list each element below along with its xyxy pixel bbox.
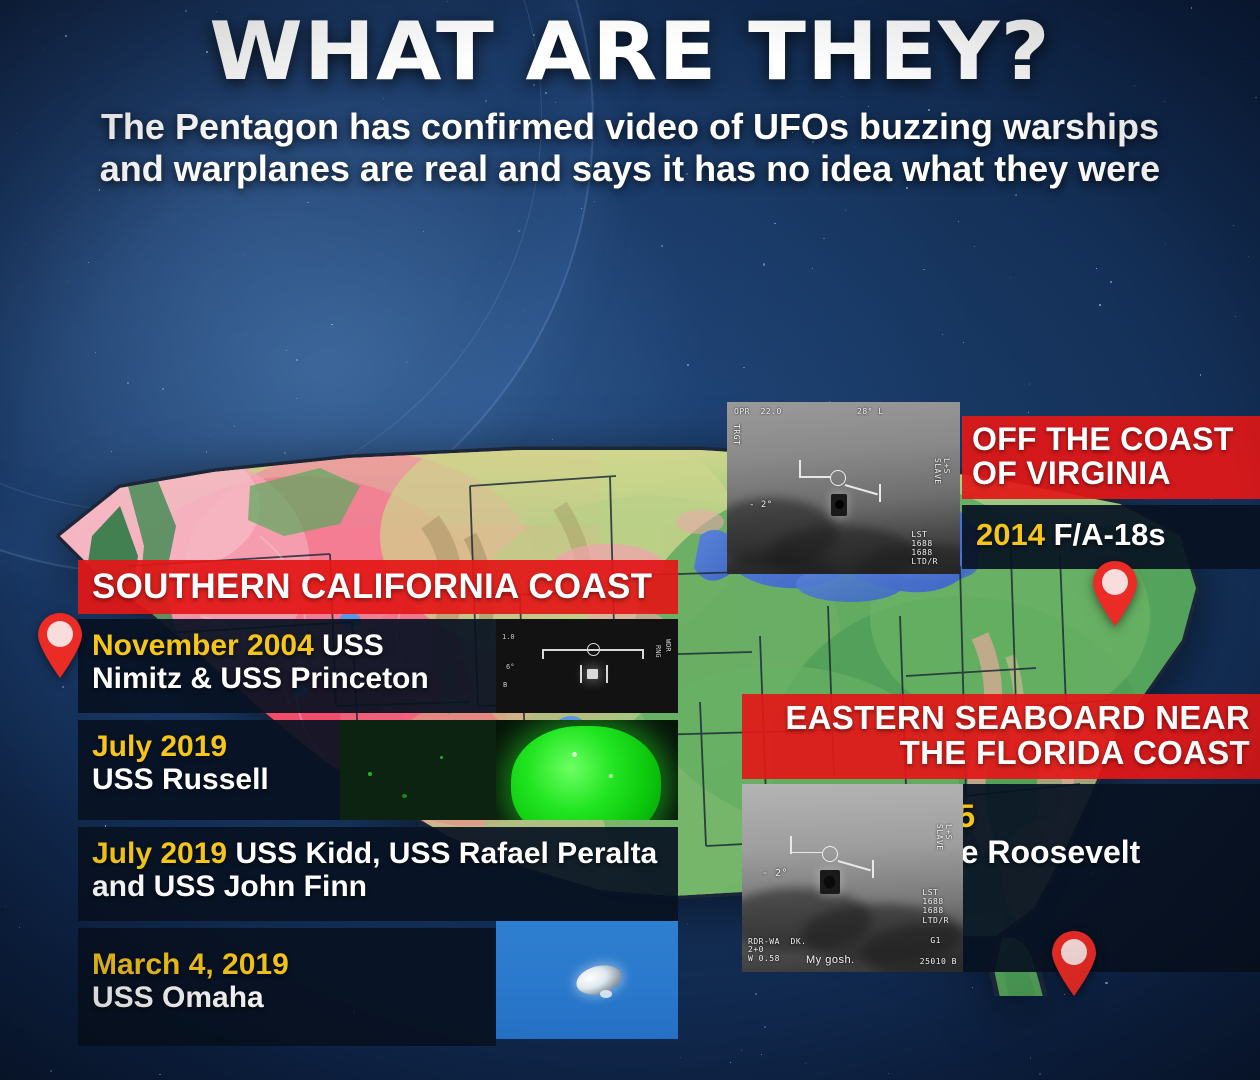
region-entry: March 4, 2019 USS Omaha: [78, 928, 496, 1046]
sky-frame: [496, 921, 678, 1039]
region-southern-california-coast: SOUTHERN CALIFORNIA COAST November 2004 …: [78, 560, 678, 1046]
osd-angle: - 2°: [749, 500, 773, 510]
osd-lst: LST 1688 1688 LTD/R: [922, 888, 949, 925]
region-entry: November 2004 USS Nimitz & USS Princeton: [78, 619, 496, 713]
header: WHAT ARE THEY? The Pentagon has confirme…: [0, 0, 1260, 191]
osd-slave: SLAVE: [935, 824, 944, 851]
region-eastern-seaboard-near-the-florida-coast: EASTERN SEABOARD NEAR THE FLORIDA COAST …: [742, 694, 1260, 972]
socal-night-vision-thumbnail-left: [340, 720, 496, 820]
osd-top-right: 28° L: [857, 407, 884, 416]
map-pin-icon-virginia[interactable]: [1091, 560, 1139, 626]
entry-date: November 2004: [92, 629, 314, 662]
osd-bottom-left: RDR-WA DK. 2+0 W 0.58: [748, 938, 806, 964]
map-pin-icon-florida[interactable]: [1050, 930, 1098, 996]
osd-g1: G1: [930, 936, 941, 945]
page-title: WHAT ARE THEY?: [0, 14, 1260, 90]
entry-date: 2014: [976, 517, 1045, 552]
region-banner: EASTERN SEABOARD NEAR THE FLORIDA COAST: [742, 694, 1260, 779]
virginia-flir-thumbnail: OPR 22.0 28° L TRGT - 2° SLAVE L+S LST 1…: [727, 402, 960, 574]
osd-lst: LST 1688 1688 LTD/R: [911, 530, 938, 566]
osd-ls: L+S: [942, 458, 951, 474]
entry-date: July 2019: [92, 837, 227, 870]
flir-frame: OPR 22.0 28° L TRGT - 2° SLAVE L+S LST 1…: [727, 402, 960, 574]
osd-angle: - 2°: [762, 868, 788, 879]
flir-frame: - 2° SLAVE L+S LST 1688 1688 LTD/R G1 RD…: [742, 784, 963, 972]
flir-frame: 1.0 6° B WDR RNG: [496, 619, 678, 713]
osd-slave: SLAVE: [933, 458, 942, 485]
night-vision-frame: [340, 720, 496, 820]
entry-detail: USS Omaha: [92, 981, 482, 1014]
osd-top-left: OPR 22.0: [734, 407, 782, 416]
night-vision-frame: [496, 720, 678, 820]
region-entry: July 2019 USS Kidd, USS Rafael Peralta a…: [78, 827, 678, 921]
florida-flir-thumbnail: - 2° SLAVE L+S LST 1688 1688 LTD/R G1 RD…: [742, 784, 963, 972]
entry-detail: F/A-18s: [1045, 517, 1166, 552]
region-banner: OFF THE COAST OF VIRGINIA: [962, 416, 1260, 499]
region-banner: SOUTHERN CALIFORNIA COAST: [78, 560, 678, 614]
page-subtitle: The Pentagon has confirmed video of UFOs…: [90, 106, 1170, 191]
spherical-object-trail: [600, 990, 612, 998]
osd-caption: My gosh.: [806, 954, 855, 966]
map-pin-icon-southern-california[interactable]: [36, 612, 84, 678]
entry-date: March 4, 2019: [92, 948, 482, 981]
uss-omaha-thumbnail: [496, 921, 678, 1039]
region-off-the-coast-of-virginia: OFF THE COAST OF VIRGINIA 2014 F/A-18s: [962, 416, 1260, 569]
socal-night-vision-thumbnail: [496, 720, 678, 820]
osd-left-vertical: TRGT: [732, 424, 741, 445]
osd-bottom-right: 25010 B: [920, 957, 957, 966]
infographic-canvas: WHAT ARE THEY? The Pentagon has confirme…: [0, 0, 1260, 1080]
socal-dark-flir-thumbnail: 1.0 6° B WDR RNG: [496, 619, 678, 713]
